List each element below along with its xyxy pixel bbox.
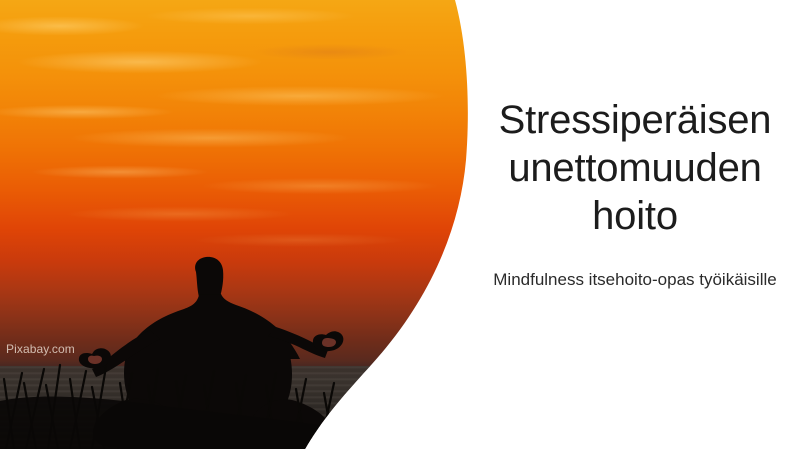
sea-shimmer	[0, 366, 480, 449]
text-block: Stressiperäisen unettomuuden hoito Mindf…	[470, 0, 800, 449]
pixabay-watermark: Pixabay.com	[6, 343, 75, 355]
slide-subtitle: Mindfulness itsehoito-opas työikäisille	[470, 268, 800, 292]
slide-title: Stressiperäisen unettomuuden hoito	[470, 96, 800, 240]
slide: Pixabay.com Stressiperäisen unettomuuden…	[0, 0, 800, 449]
background-photo: Pixabay.com	[0, 0, 480, 449]
sea	[0, 366, 480, 449]
